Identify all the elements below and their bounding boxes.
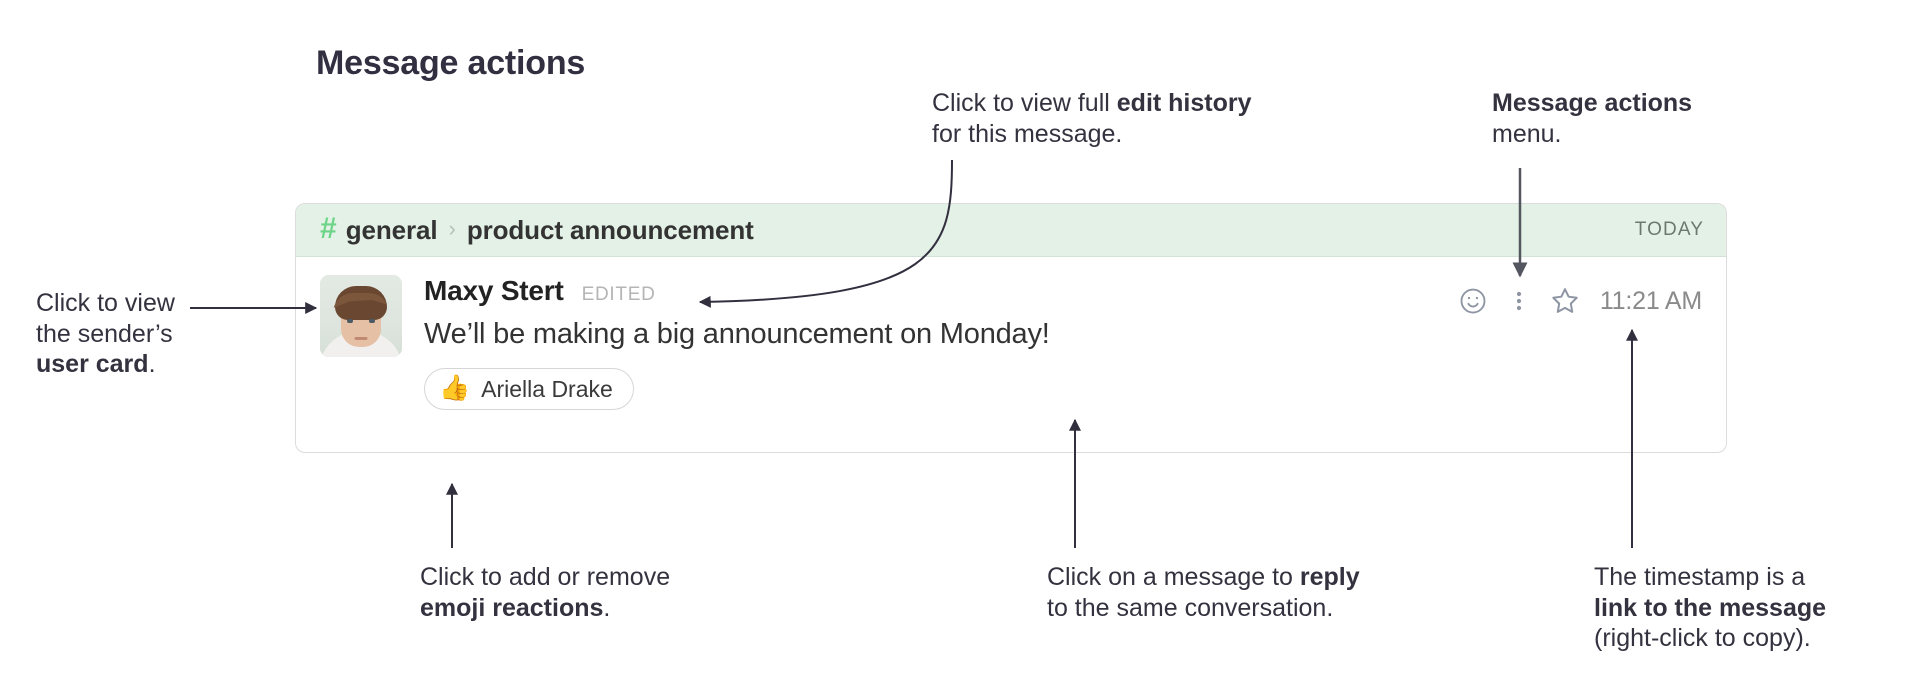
annotation-timestamp-line1: The timestamp is a xyxy=(1594,562,1826,593)
annotation-edit-history-line1-plain: Click to view full xyxy=(932,89,1117,117)
chevron-right-icon: › xyxy=(448,216,455,242)
annotation-emoji-reactions-line2-tail: . xyxy=(603,594,610,622)
annotation-actions-menu-line2: menu. xyxy=(1492,119,1692,150)
annotation-edit-history-line1: Click to view full edit history xyxy=(932,88,1252,119)
annotation-timestamp-line2-bold: link to the message xyxy=(1594,594,1826,622)
page-title: Message actions xyxy=(316,44,585,83)
message-body-text[interactable]: We’ll be making a big announcement on Mo… xyxy=(424,318,1704,351)
annotation-actions-menu-line1-bold: Message actions xyxy=(1492,89,1692,117)
edited-marker[interactable]: EDITED xyxy=(582,284,656,306)
avatar-eye-right xyxy=(369,319,375,323)
annotation-emoji-reactions: Click to add or remove emoji reactions. xyxy=(420,562,670,623)
annotation-user-card-line1: Click to view xyxy=(36,288,175,319)
avatar-eye-left xyxy=(347,319,353,323)
hash-icon: # xyxy=(320,214,337,244)
annotation-edit-history-line2: for this message. xyxy=(932,119,1252,150)
annotation-emoji-reactions-line2-bold: emoji reactions xyxy=(420,594,603,622)
topic-name-link[interactable]: product announcement xyxy=(467,215,754,246)
message-actions-cluster: 11:21 AM xyxy=(1450,281,1702,321)
annotation-reply-line2: to the same conversation. xyxy=(1047,593,1360,624)
annotation-edit-history: Click to view full edit history for this… xyxy=(932,88,1252,149)
annotation-user-card-line3-tail: . xyxy=(149,350,156,378)
annotation-actions-menu-line1: Message actions xyxy=(1492,88,1692,119)
annotation-timestamp-line3: (right-click to copy). xyxy=(1594,623,1826,654)
thumbs-up-icon: 👍 xyxy=(439,376,470,401)
reaction-row: 👍 Ariella Drake xyxy=(424,368,1704,410)
message-row[interactable]: Maxy Stert EDITED We’ll be making a big … xyxy=(296,257,1726,410)
emoji-reaction-icon[interactable] xyxy=(1450,281,1496,321)
annotation-reply-line1-bold: reply xyxy=(1300,563,1360,591)
annotation-user-card: Click to view the sender’s user card. xyxy=(36,288,175,380)
annotation-reply: Click on a message to reply to the same … xyxy=(1047,562,1360,623)
annotation-actions-menu: Message actions menu. xyxy=(1492,88,1692,149)
annotation-user-card-line2: the sender’s xyxy=(36,319,175,350)
annotation-emoji-reactions-line1: Click to add or remove xyxy=(420,562,670,593)
annotation-reply-line1: Click on a message to reply xyxy=(1047,562,1360,593)
annotation-user-card-line3: user card. xyxy=(36,349,175,380)
message-card[interactable]: # general › product announcement TODAY M… xyxy=(295,203,1727,453)
avatar-mouth xyxy=(355,337,368,340)
reaction-pill[interactable]: 👍 Ariella Drake xyxy=(424,368,634,410)
annotation-edit-history-line1-bold: edit history xyxy=(1117,89,1252,117)
avatar[interactable] xyxy=(320,275,402,357)
annotation-timestamp-line2: link to the message xyxy=(1594,593,1826,624)
sender-name[interactable]: Maxy Stert xyxy=(424,275,564,307)
annotation-user-card-line3-bold: user card xyxy=(36,350,149,378)
stream-name-link[interactable]: general xyxy=(346,215,438,246)
message-timestamp-link[interactable]: 11:21 AM xyxy=(1600,287,1702,316)
reaction-user-label: Ariella Drake xyxy=(481,376,613,403)
message-actions-menu-icon[interactable] xyxy=(1496,281,1542,321)
star-icon[interactable] xyxy=(1542,281,1588,321)
recipient-bar[interactable]: # general › product announcement TODAY xyxy=(296,204,1726,257)
annotation-reply-line1-plain: Click on a message to xyxy=(1047,563,1300,591)
annotation-emoji-reactions-line2: emoji reactions. xyxy=(420,593,670,624)
date-label: TODAY xyxy=(1635,219,1704,241)
annotation-timestamp: The timestamp is a link to the message (… xyxy=(1594,562,1826,654)
